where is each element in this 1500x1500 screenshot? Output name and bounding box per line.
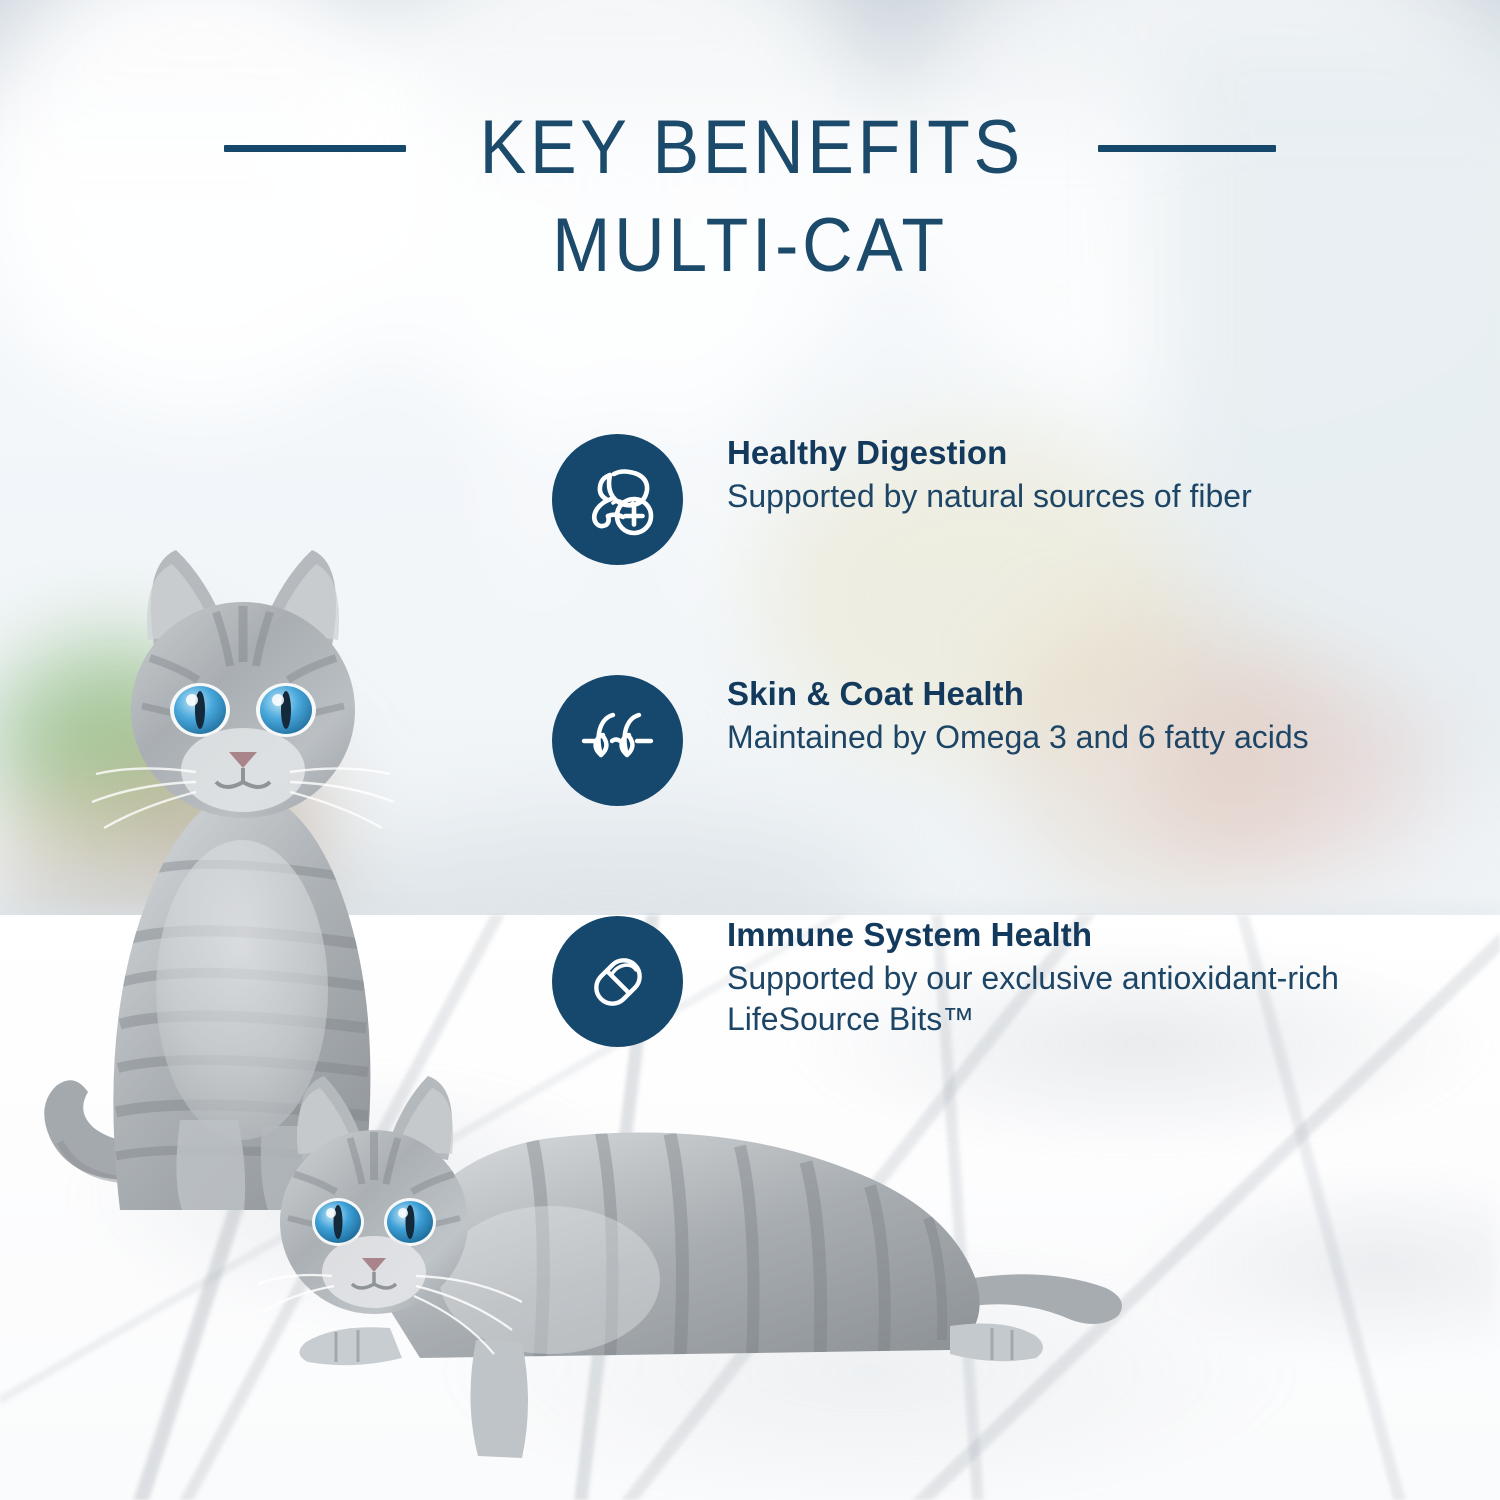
page-title: KEY BENEFITS <box>480 110 1024 186</box>
benefit-body: Supported by natural sources of fiber <box>727 476 1252 517</box>
benefit-item-skin-coat-health: Skin & Coat Health Maintained by Omega 3… <box>552 673 1452 806</box>
key-benefits-banner: KEY BENEFITS MULTI-CAT <box>0 0 1500 1500</box>
hair-follicle-icon <box>552 675 683 806</box>
capsule-pill-icon <box>552 916 683 1047</box>
benefit-body: Maintained by Omega 3 and 6 fatty acids <box>727 717 1309 758</box>
benefit-item-immune-system-health: Immune System Health Supported by our ex… <box>552 914 1452 1047</box>
title-rule-right <box>1098 145 1276 152</box>
benefit-title: Healthy Digestion <box>727 434 1252 472</box>
benefit-body: Supported by our exclusive antioxidant-r… <box>727 958 1367 1040</box>
page-subtitle: MULTI-CAT <box>60 208 1440 284</box>
benefits-list: Healthy Digestion Supported by natural s… <box>552 432 1452 1047</box>
benefit-title: Skin & Coat Health <box>727 675 1309 713</box>
benefit-item-healthy-digestion: Healthy Digestion Supported by natural s… <box>552 432 1452 565</box>
header: KEY BENEFITS MULTI-CAT <box>0 110 1500 284</box>
title-row: KEY BENEFITS <box>0 110 1500 186</box>
title-rule-left <box>224 145 406 152</box>
benefit-text: Immune System Health Supported by our ex… <box>727 914 1367 1040</box>
benefit-text: Healthy Digestion Supported by natural s… <box>727 432 1252 517</box>
stomach-plus-icon <box>552 434 683 565</box>
benefit-text: Skin & Coat Health Maintained by Omega 3… <box>727 673 1309 758</box>
benefit-title: Immune System Health <box>727 916 1367 954</box>
